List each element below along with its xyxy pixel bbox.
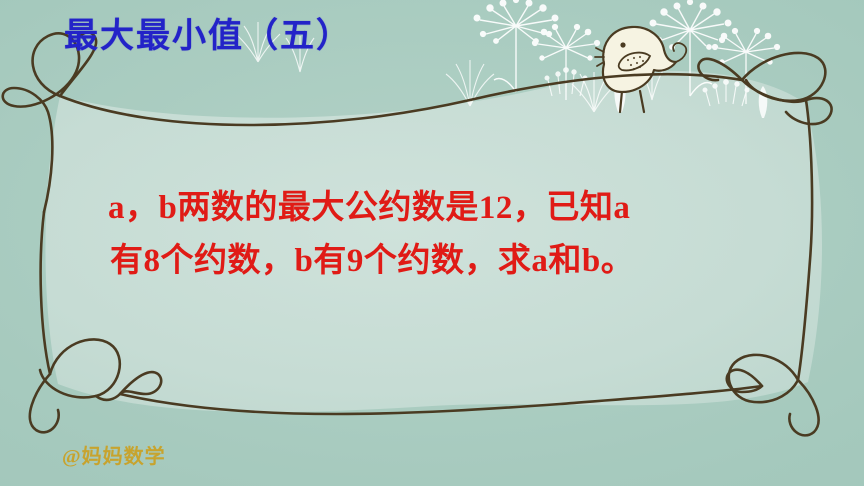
- problem-line-2: 有8个约数，b有9个约数，求a和b。: [108, 235, 758, 288]
- problem-statement: a，b两数的最大公约数是12，已知a 有8个约数，b有9个约数，求a和b。: [108, 182, 758, 288]
- watermark: @妈妈数学: [62, 440, 166, 469]
- problem-line-1: a，b两数的最大公约数是12，已知a: [108, 182, 758, 235]
- page-title: 最大最小值（五）: [64, 20, 352, 54]
- slide-canvas: 最大最小值（五） a，b两数的最大公约数是12，已知a 有8个约数，b有9个约数…: [0, 0, 864, 486]
